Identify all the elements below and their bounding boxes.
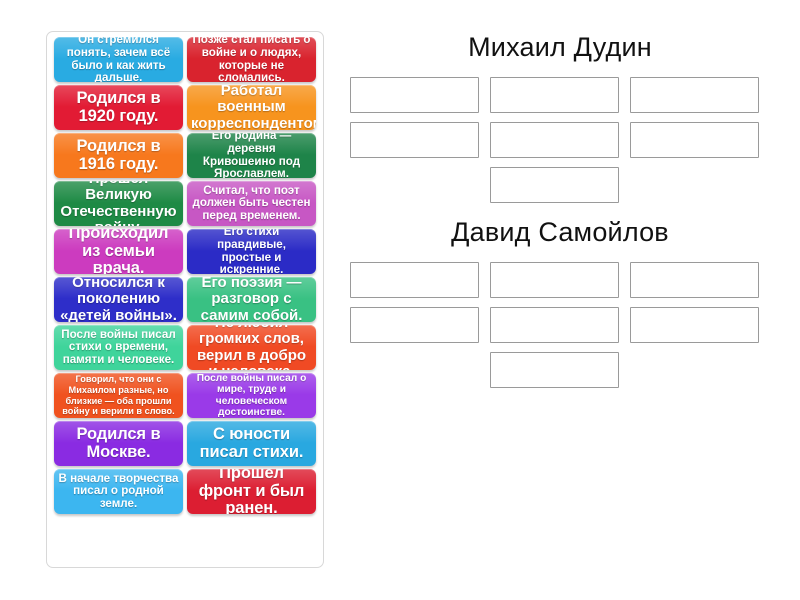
answer-tile[interactable]: Прошёл фронт и был ранен. [187,469,316,514]
answer-tile-label: Его стихи правдивые, простые и искренние… [191,229,312,274]
drop-slot[interactable] [490,262,619,298]
answer-tile-label: Он стремился понять, зачем всё было и ка… [58,37,179,82]
tile-pool[interactable]: Он стремился понять, зачем всё было и ка… [46,31,324,568]
answer-tile[interactable]: Не любил громких слов, верил в добро и ч… [187,325,316,370]
answer-tile-label: Прошёл Великую Отечественную войну. [58,181,179,226]
answer-tile[interactable]: Происходил из семьи врача. [54,229,183,274]
answer-tile[interactable]: Работал военным корреспондентом. [187,85,316,130]
answer-tile[interactable]: Родился в 1916 году. [54,133,183,178]
group-column: Михаил ДудинДавид Самойлов [350,24,770,394]
answer-tile-label: После войны писал стихи о времени, памят… [58,329,179,367]
drop-slot[interactable] [490,307,619,343]
answer-tile-label: Родился в Москве. [58,426,179,462]
drop-slot[interactable] [490,122,619,158]
answer-tile-label: В начале творчества писал о родной земле… [58,473,179,511]
answer-tile-label: Позже стал писать о войне и о людях, кот… [191,37,312,82]
answer-tile[interactable]: Его стихи правдивые, простые и искренние… [187,229,316,274]
group-title: Давид Самойлов [350,209,770,262]
answer-tile[interactable]: Прошёл Великую Отечественную войну. [54,181,183,226]
answer-tile-label: Говорил, что они с Михаилом разные, но б… [58,374,179,416]
answer-tile-label: Относился к поколению «детей войны». [58,277,179,322]
activity-canvas: Он стремился понять, зачем всё было и ка… [0,0,800,600]
answer-tile[interactable]: Он стремился понять, зачем всё было и ка… [54,37,183,82]
drop-slot[interactable] [350,307,479,343]
drop-slot[interactable] [490,77,619,113]
drop-slot[interactable] [630,262,759,298]
drop-slot[interactable] [350,262,479,298]
drop-slot[interactable] [350,122,479,158]
answer-tile[interactable]: После войны писал стихи о времени, памят… [54,325,183,370]
group-slot-grid [350,262,759,343]
answer-tile[interactable]: В начале творчества писал о родной земле… [54,469,183,514]
drop-slot[interactable] [490,352,619,388]
drop-slot[interactable] [630,307,759,343]
drop-slot[interactable] [490,167,619,203]
answer-tile-label: Родился в 1920 году. [58,90,179,126]
tile-grid: Он стремился понять, зачем всё было и ка… [51,37,319,514]
group-title: Михаил Дудин [350,24,770,77]
answer-tile[interactable]: После войны писал о мире, труде и челове… [187,373,316,418]
answer-tile[interactable]: Родился в Москве. [54,421,183,466]
group: Давид Самойлов [350,209,770,388]
answer-tile-label: Родился в 1916 году. [58,138,179,174]
answer-tile-label: Не любил громких слов, верил в добро и ч… [191,325,312,370]
answer-tile-label: Прошёл фронт и был ранен. [191,469,312,514]
answer-tile-label: С юности писал стихи. [191,426,312,462]
answer-tile-label: Его поэзия — разговор с самим собой. [191,277,312,322]
answer-tile[interactable]: Его родина — деревня Кривошеино под Ярос… [187,133,316,178]
drop-slot[interactable] [350,77,479,113]
answer-tile-label: Происходил из семьи врача. [58,229,179,274]
answer-tile[interactable]: Родился в 1920 году. [54,85,183,130]
answer-tile[interactable]: Его поэзия — разговор с самим собой. [187,277,316,322]
group: Михаил Дудин [350,24,770,203]
answer-tile[interactable]: Говорил, что они с Михаилом разные, но б… [54,373,183,418]
answer-tile-label: Считал, что поэт должен быть честен пере… [191,185,312,223]
answer-tile-label: После войны писал о мире, труде и челове… [191,373,312,417]
answer-tile-label: Его родина — деревня Кривошеино под Ярос… [191,133,312,178]
drop-slot[interactable] [630,122,759,158]
group-slot-row-last [350,167,759,203]
group-slot-grid [350,77,759,158]
group-slot-row-last [350,352,759,388]
answer-tile[interactable]: Позже стал писать о войне и о людях, кот… [187,37,316,82]
answer-tile[interactable]: С юности писал стихи. [187,421,316,466]
drop-slot[interactable] [630,77,759,113]
answer-tile[interactable]: Относился к поколению «детей войны». [54,277,183,322]
answer-tile[interactable]: Считал, что поэт должен быть честен пере… [187,181,316,226]
answer-tile-label: Работал военным корреспондентом. [191,85,312,130]
